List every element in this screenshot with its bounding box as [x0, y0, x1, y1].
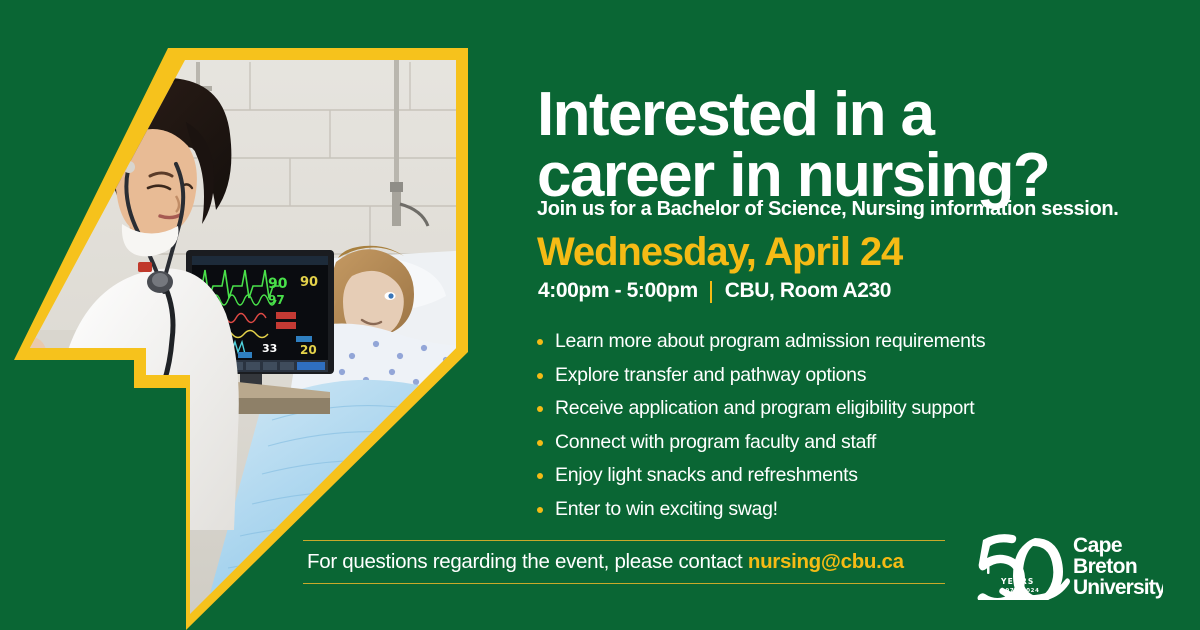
list-item: Explore transfer and pathway options: [537, 364, 1137, 387]
contact-label: For questions regarding the event, pleas…: [307, 550, 748, 573]
event-location: CBU, Room A230: [725, 279, 891, 303]
logo-line-university: University: [1073, 576, 1163, 599]
cbu-wordmark: Cape Breton University: [1073, 534, 1163, 599]
svg-text:90: 90: [300, 275, 318, 290]
svg-text:97: 97: [268, 293, 285, 307]
equipment-cart: [0, 396, 100, 496]
contact-email-link[interactable]: nursing@cbu.ca: [748, 550, 904, 573]
event-date: Wednesday, April 24: [537, 230, 902, 275]
list-item: Connect with program faculty and staff: [537, 431, 1137, 454]
poster: 90 90 97 33 20: [0, 0, 1200, 630]
benefits-list: Learn more about program admission requi…: [537, 330, 1137, 531]
headline-line-1: Interested in a: [537, 80, 933, 149]
anniversary-years-label: YEARS: [1000, 577, 1035, 586]
list-item: Learn more about program admission requi…: [537, 330, 1137, 353]
event-time: 4:00pm - 5:00pm: [538, 279, 698, 303]
page-title: Interested in acareer in nursing?: [537, 84, 1147, 207]
event-meta: 4:00pm - 5:00pm CBU, Room A230: [538, 279, 891, 303]
contact-bar: For questions regarding the event, pleas…: [303, 540, 945, 584]
logo-line-breton: Breton: [1073, 555, 1137, 578]
logo-line-cape: Cape: [1073, 534, 1122, 557]
svg-text:33: 33: [262, 342, 277, 355]
contact-text: For questions regarding the event, pleas…: [303, 550, 904, 574]
anniversary-year-range: 1974-2024: [1001, 588, 1040, 594]
svg-text:90: 90: [268, 276, 288, 292]
list-item: Enter to win exciting swag!: [537, 498, 1137, 521]
cbu-logo[interactable]: YEARS 1974-2024 Cape Breton University: [963, 528, 1163, 600]
photo-image: 90 90 97 33 20: [0, 0, 500, 630]
svg-text:20: 20: [300, 343, 317, 357]
list-item: Receive application and program eligibil…: [537, 397, 1137, 420]
meta-separator: [710, 281, 712, 303]
photo-frame: 90 90 97 33 20: [0, 0, 500, 630]
list-item: Enjoy light snacks and refreshments: [537, 464, 1137, 487]
subtitle: Join us for a Bachelor of Science, Nursi…: [537, 198, 1137, 221]
